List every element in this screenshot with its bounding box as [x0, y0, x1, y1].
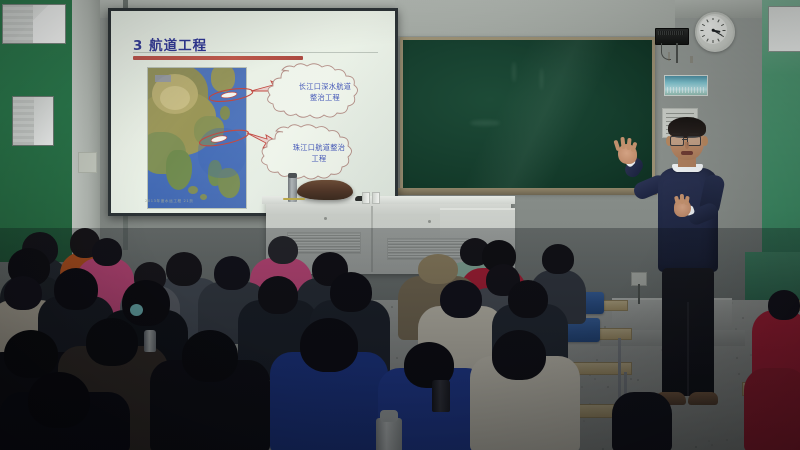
- finger: [631, 142, 638, 153]
- presenter-leg-gap: [687, 302, 689, 396]
- floor-speck: [726, 439, 728, 441]
- bubble-zhujiang-line2: 工程: [273, 154, 365, 164]
- student-head: [54, 268, 98, 310]
- student-head: [28, 372, 90, 428]
- upper-wall-band: [395, 0, 675, 36]
- small-cup-1: [362, 192, 370, 204]
- glasses-lens-right: [687, 136, 701, 146]
- student-head: [92, 238, 122, 266]
- student-head: [166, 252, 202, 286]
- student-head: [4, 276, 42, 310]
- presenter-brow-right: [689, 133, 699, 135]
- clock-tick: [706, 38, 708, 41]
- chalkboard-sheen: [403, 40, 652, 189]
- chalk-smudge: [470, 120, 500, 126]
- speaker-grille-icon: [658, 31, 684, 35]
- student-body: [612, 392, 672, 450]
- floor-speck: [607, 386, 609, 388]
- projection-screen[interactable]: 3 航道工程: [111, 11, 395, 213]
- presenter-shoe-right: [688, 392, 718, 405]
- wall-switch-plate[interactable]: [78, 152, 97, 173]
- clock-tick: [702, 35, 705, 37]
- floor-speck: [596, 359, 598, 361]
- presenter-right-hand: [674, 199, 691, 217]
- clock-tick: [721, 23, 724, 25]
- student-head: [492, 330, 546, 380]
- bubble-zhujiang-line1: 珠江口航道整治: [273, 143, 365, 153]
- water-bottle-cap: [380, 410, 398, 422]
- presenter-hair: [668, 117, 706, 138]
- chalk-smudge: [512, 62, 516, 82]
- presenter: [630, 120, 740, 420]
- floor-speck: [391, 306, 393, 308]
- clock-tick: [723, 30, 726, 31]
- bubble-changjiang-line1: 长江口深水航道: [279, 82, 371, 92]
- lectern-seam: [371, 206, 373, 272]
- wall-mark: [690, 56, 693, 63]
- presenter-ear-right: [702, 136, 708, 146]
- floor-speck: [695, 446, 697, 448]
- right-window: [768, 6, 800, 52]
- student-head: [330, 272, 372, 312]
- student-head: [300, 318, 358, 372]
- lectern-vent-left: [287, 232, 361, 254]
- thermos-cap: [288, 173, 297, 178]
- classroom-scene: 3 航道工程: [0, 0, 800, 450]
- clock-tick: [702, 23, 705, 25]
- pen-on-lectern: [283, 198, 305, 200]
- student-head: [182, 330, 238, 382]
- bubble-changjiang-line2: 整治工程: [279, 93, 371, 103]
- clock-tick: [701, 30, 704, 31]
- glasses-bridge-icon: [682, 139, 687, 140]
- slide-annotations: [111, 11, 395, 213]
- leather-bag: [297, 180, 353, 200]
- clock-tick: [713, 40, 714, 43]
- clock-tick: [718, 19, 720, 22]
- floor-speck: [583, 420, 585, 422]
- clock-tick: [706, 19, 708, 22]
- glasses-lens-left: [670, 136, 684, 146]
- clock-face: [699, 16, 727, 44]
- chalk-tray: [398, 188, 657, 195]
- student-head: [268, 236, 298, 264]
- door-window-top: [2, 4, 66, 44]
- floor-speck: [396, 357, 398, 359]
- landscape-poster: [664, 75, 708, 96]
- student-head: [440, 280, 482, 318]
- floor-speck: [711, 444, 713, 446]
- presenter-mouth: [681, 151, 693, 155]
- student-fur-hood: [418, 254, 458, 284]
- student-body-red: [744, 368, 800, 450]
- chalk-smudge: [540, 68, 543, 90]
- student-head: [542, 244, 574, 274]
- student-head: [508, 280, 548, 318]
- door-window-mid: [12, 96, 54, 146]
- presentation-slide: 3 航道工程: [111, 11, 395, 213]
- floor-speck: [594, 378, 596, 380]
- lectern-lock-left[interactable]: [324, 217, 327, 220]
- presenter-nose: [685, 142, 689, 149]
- student-head: [258, 276, 298, 314]
- small-thermos: [144, 330, 156, 352]
- lectern-lock-right[interactable]: [428, 220, 431, 223]
- wall-mark: [668, 52, 670, 61]
- floor-speck: [742, 317, 744, 319]
- dark-bottle: [432, 380, 450, 412]
- presenter-brow-left: [671, 133, 681, 135]
- clock-tick: [721, 35, 724, 37]
- student-head: [214, 256, 250, 290]
- clock-tick: [713, 18, 714, 21]
- presenter-left-hand: [618, 144, 637, 164]
- floor-speck: [602, 448, 604, 450]
- clock-tick: [718, 38, 720, 41]
- slide-footer: 2013年度水运工程 21页: [145, 199, 193, 204]
- finger: [684, 196, 689, 205]
- student-head: [86, 318, 138, 366]
- floor-speck: [708, 440, 710, 442]
- speaker-cable-drop: [676, 43, 678, 63]
- student-head: [4, 330, 58, 378]
- green-door[interactable]: [0, 0, 72, 262]
- hair-clip: [130, 304, 143, 316]
- student-head-long-hair: [122, 280, 170, 326]
- water-bottle-front: [376, 418, 402, 450]
- floor-speck: [581, 386, 583, 388]
- clock-center-pin: [712, 29, 715, 32]
- student-head: [768, 290, 800, 320]
- small-cup-2: [372, 192, 380, 204]
- finger: [680, 194, 684, 204]
